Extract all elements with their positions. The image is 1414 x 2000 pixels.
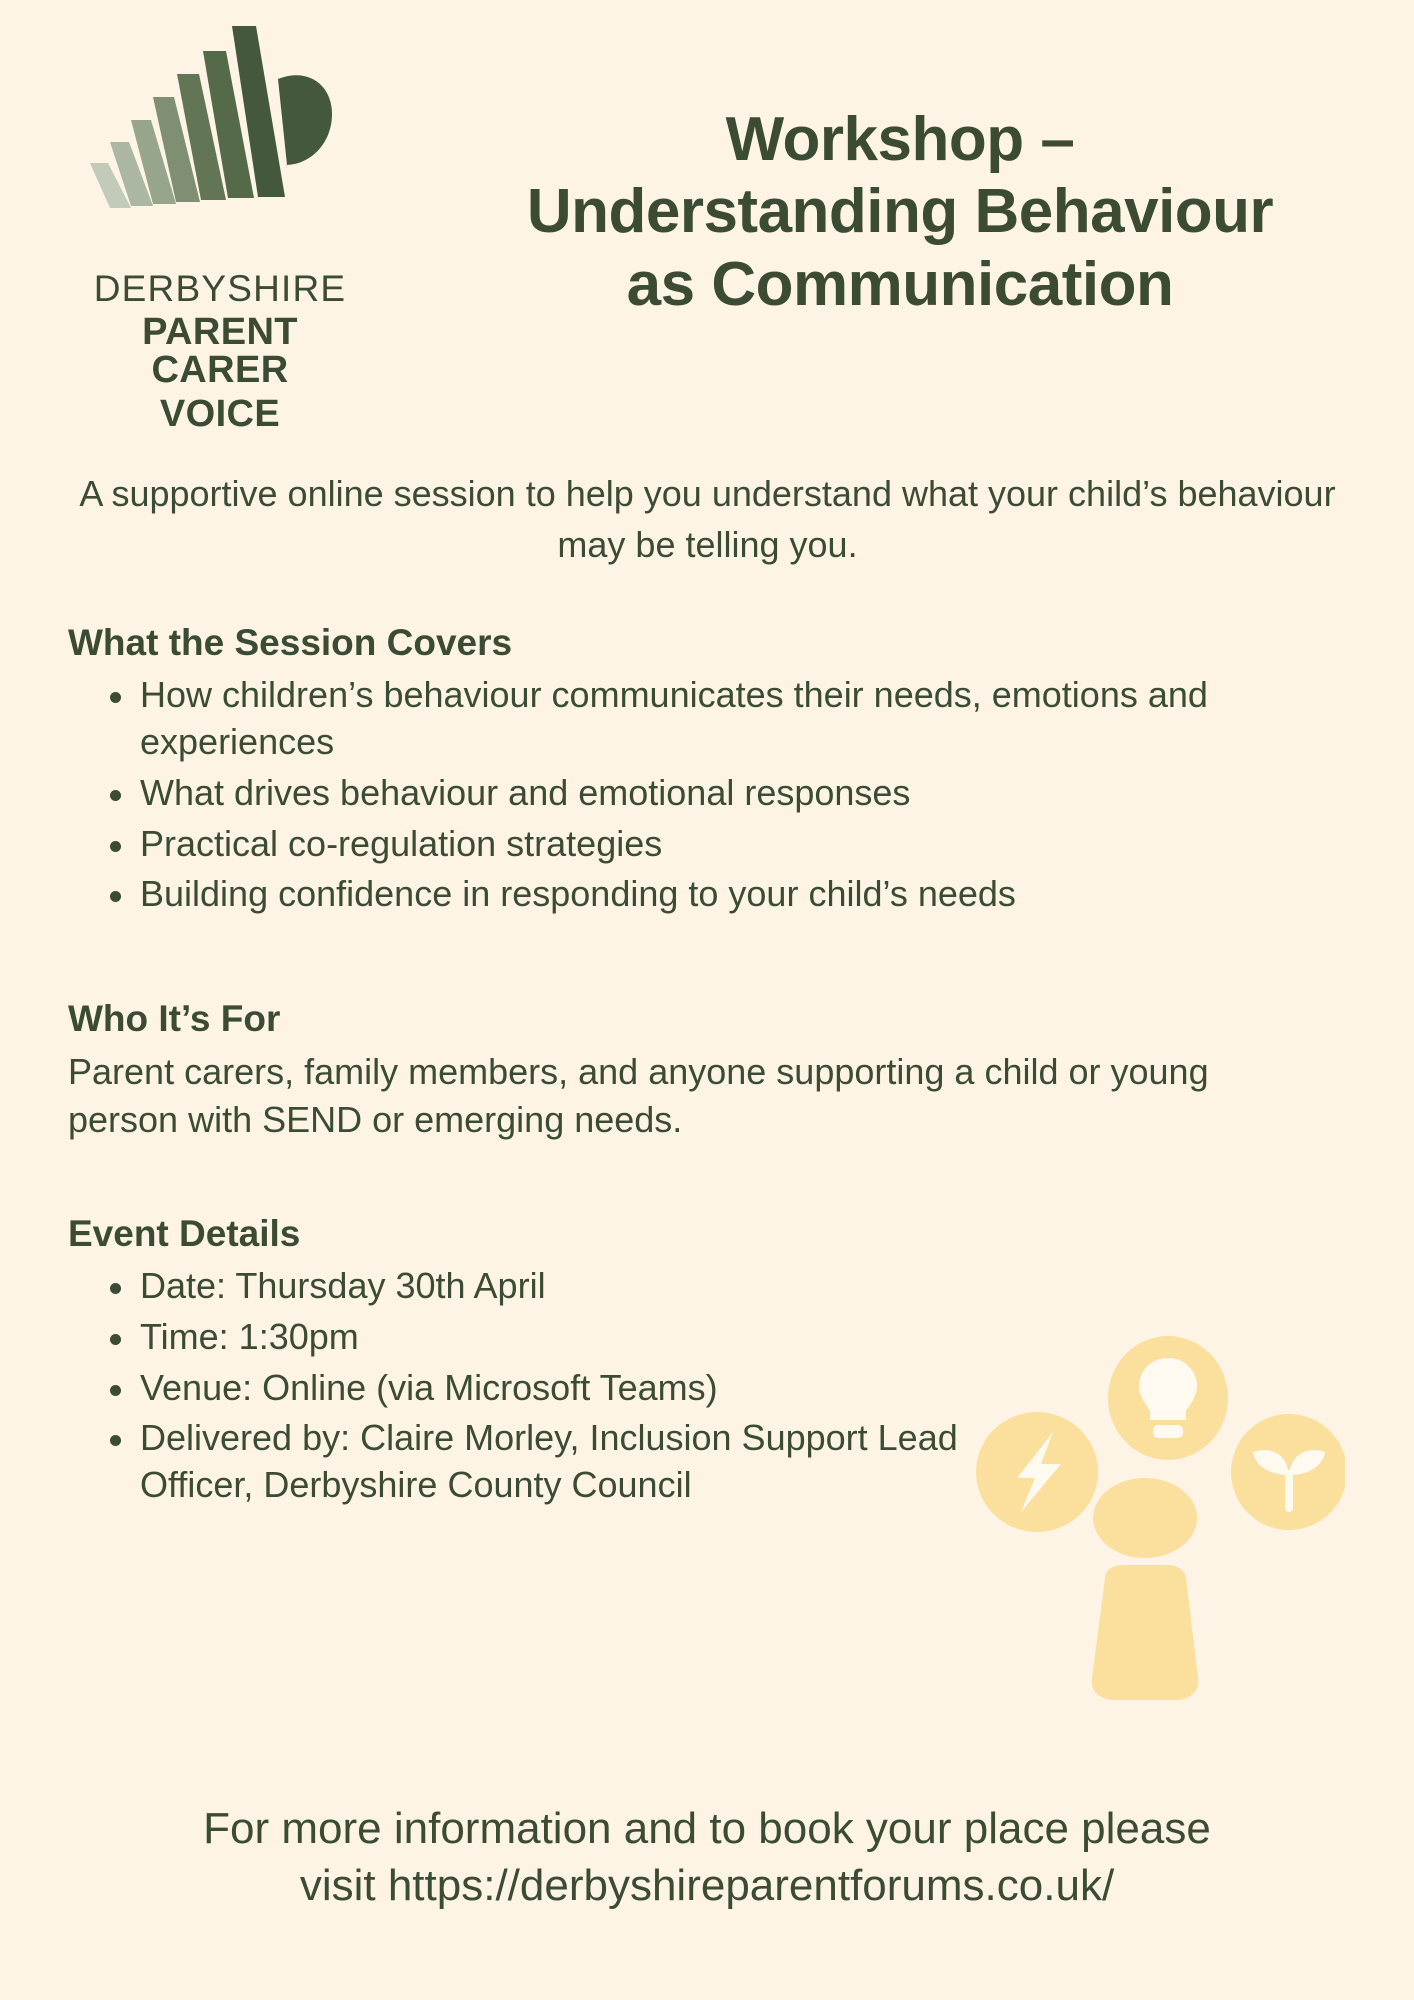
logo-line-voice: VOICE — [70, 395, 370, 433]
list-item: Time: 1:30pm — [68, 1314, 1358, 1361]
section-heading-session-covers: What the Session Covers — [68, 620, 1358, 666]
list-item: What drives behaviour and emotional resp… — [68, 770, 1358, 817]
logo-wordmark: DERBYSHIRE PARENT CARER VOICE — [70, 270, 370, 433]
list-item: Practical co-regulation strategies — [68, 821, 1358, 868]
title-line-3: as Communication — [420, 249, 1380, 322]
who-its-for-paragraph: Parent carers, family members, and anyon… — [68, 1048, 1228, 1142]
list-item: Venue: Online (via Microsoft Teams) — [68, 1365, 1358, 1412]
subtitle-text: A supportive online session to help you … — [70, 468, 1345, 570]
title-line-2: Understanding Behaviour — [420, 176, 1380, 249]
section-event-details: Event Details Date: Thursday 30th April … — [68, 1211, 1358, 1509]
spacer — [68, 922, 1358, 996]
spacer — [68, 1143, 1358, 1211]
person-body-shape — [1092, 1565, 1198, 1700]
list-item: Building confidence in responding to you… — [68, 871, 1358, 918]
section-who-its-for: Who It’s For Parent carers, family membe… — [68, 996, 1358, 1143]
event-details-list: Date: Thursday 30th April Time: 1:30pm V… — [68, 1263, 1358, 1509]
list-item: Date: Thursday 30th April — [68, 1263, 1358, 1310]
title-line-1: Workshop – — [420, 104, 1380, 177]
session-covers-list: How children’s behaviour communicates th… — [68, 672, 1358, 918]
section-heading-who-its-for: Who It’s For — [68, 996, 1358, 1042]
megaphone-icon — [80, 22, 360, 237]
footer-line-2: visit https://derbyshireparentforums.co.… — [40, 1857, 1374, 1914]
footer-line-1: For more information and to book your pl… — [40, 1800, 1374, 1857]
section-session-covers: What the Session Covers How children’s b… — [68, 620, 1358, 918]
poster-canvas: DERBYSHIRE PARENT CARER VOICE Workshop –… — [0, 0, 1414, 2000]
page-title: Workshop – Understanding Behaviour as Co… — [420, 104, 1380, 322]
section-heading-event-details: Event Details — [68, 1211, 1358, 1257]
list-item: How children’s behaviour communicates th… — [68, 672, 1358, 766]
organisation-logo: DERBYSHIRE PARENT CARER VOICE — [70, 22, 370, 392]
poster-body: What the Session Covers How children’s b… — [68, 620, 1358, 1513]
logo-line-parent-carer: PARENT CARER — [70, 313, 370, 389]
list-item: Delivered by: Claire Morley, Inclusion S… — [68, 1415, 980, 1509]
footer-booking-info: For more information and to book your pl… — [40, 1800, 1374, 1914]
logo-line-derbyshire: DERBYSHIRE — [70, 270, 370, 307]
poster-header: DERBYSHIRE PARENT CARER VOICE Workshop –… — [0, 0, 1414, 410]
